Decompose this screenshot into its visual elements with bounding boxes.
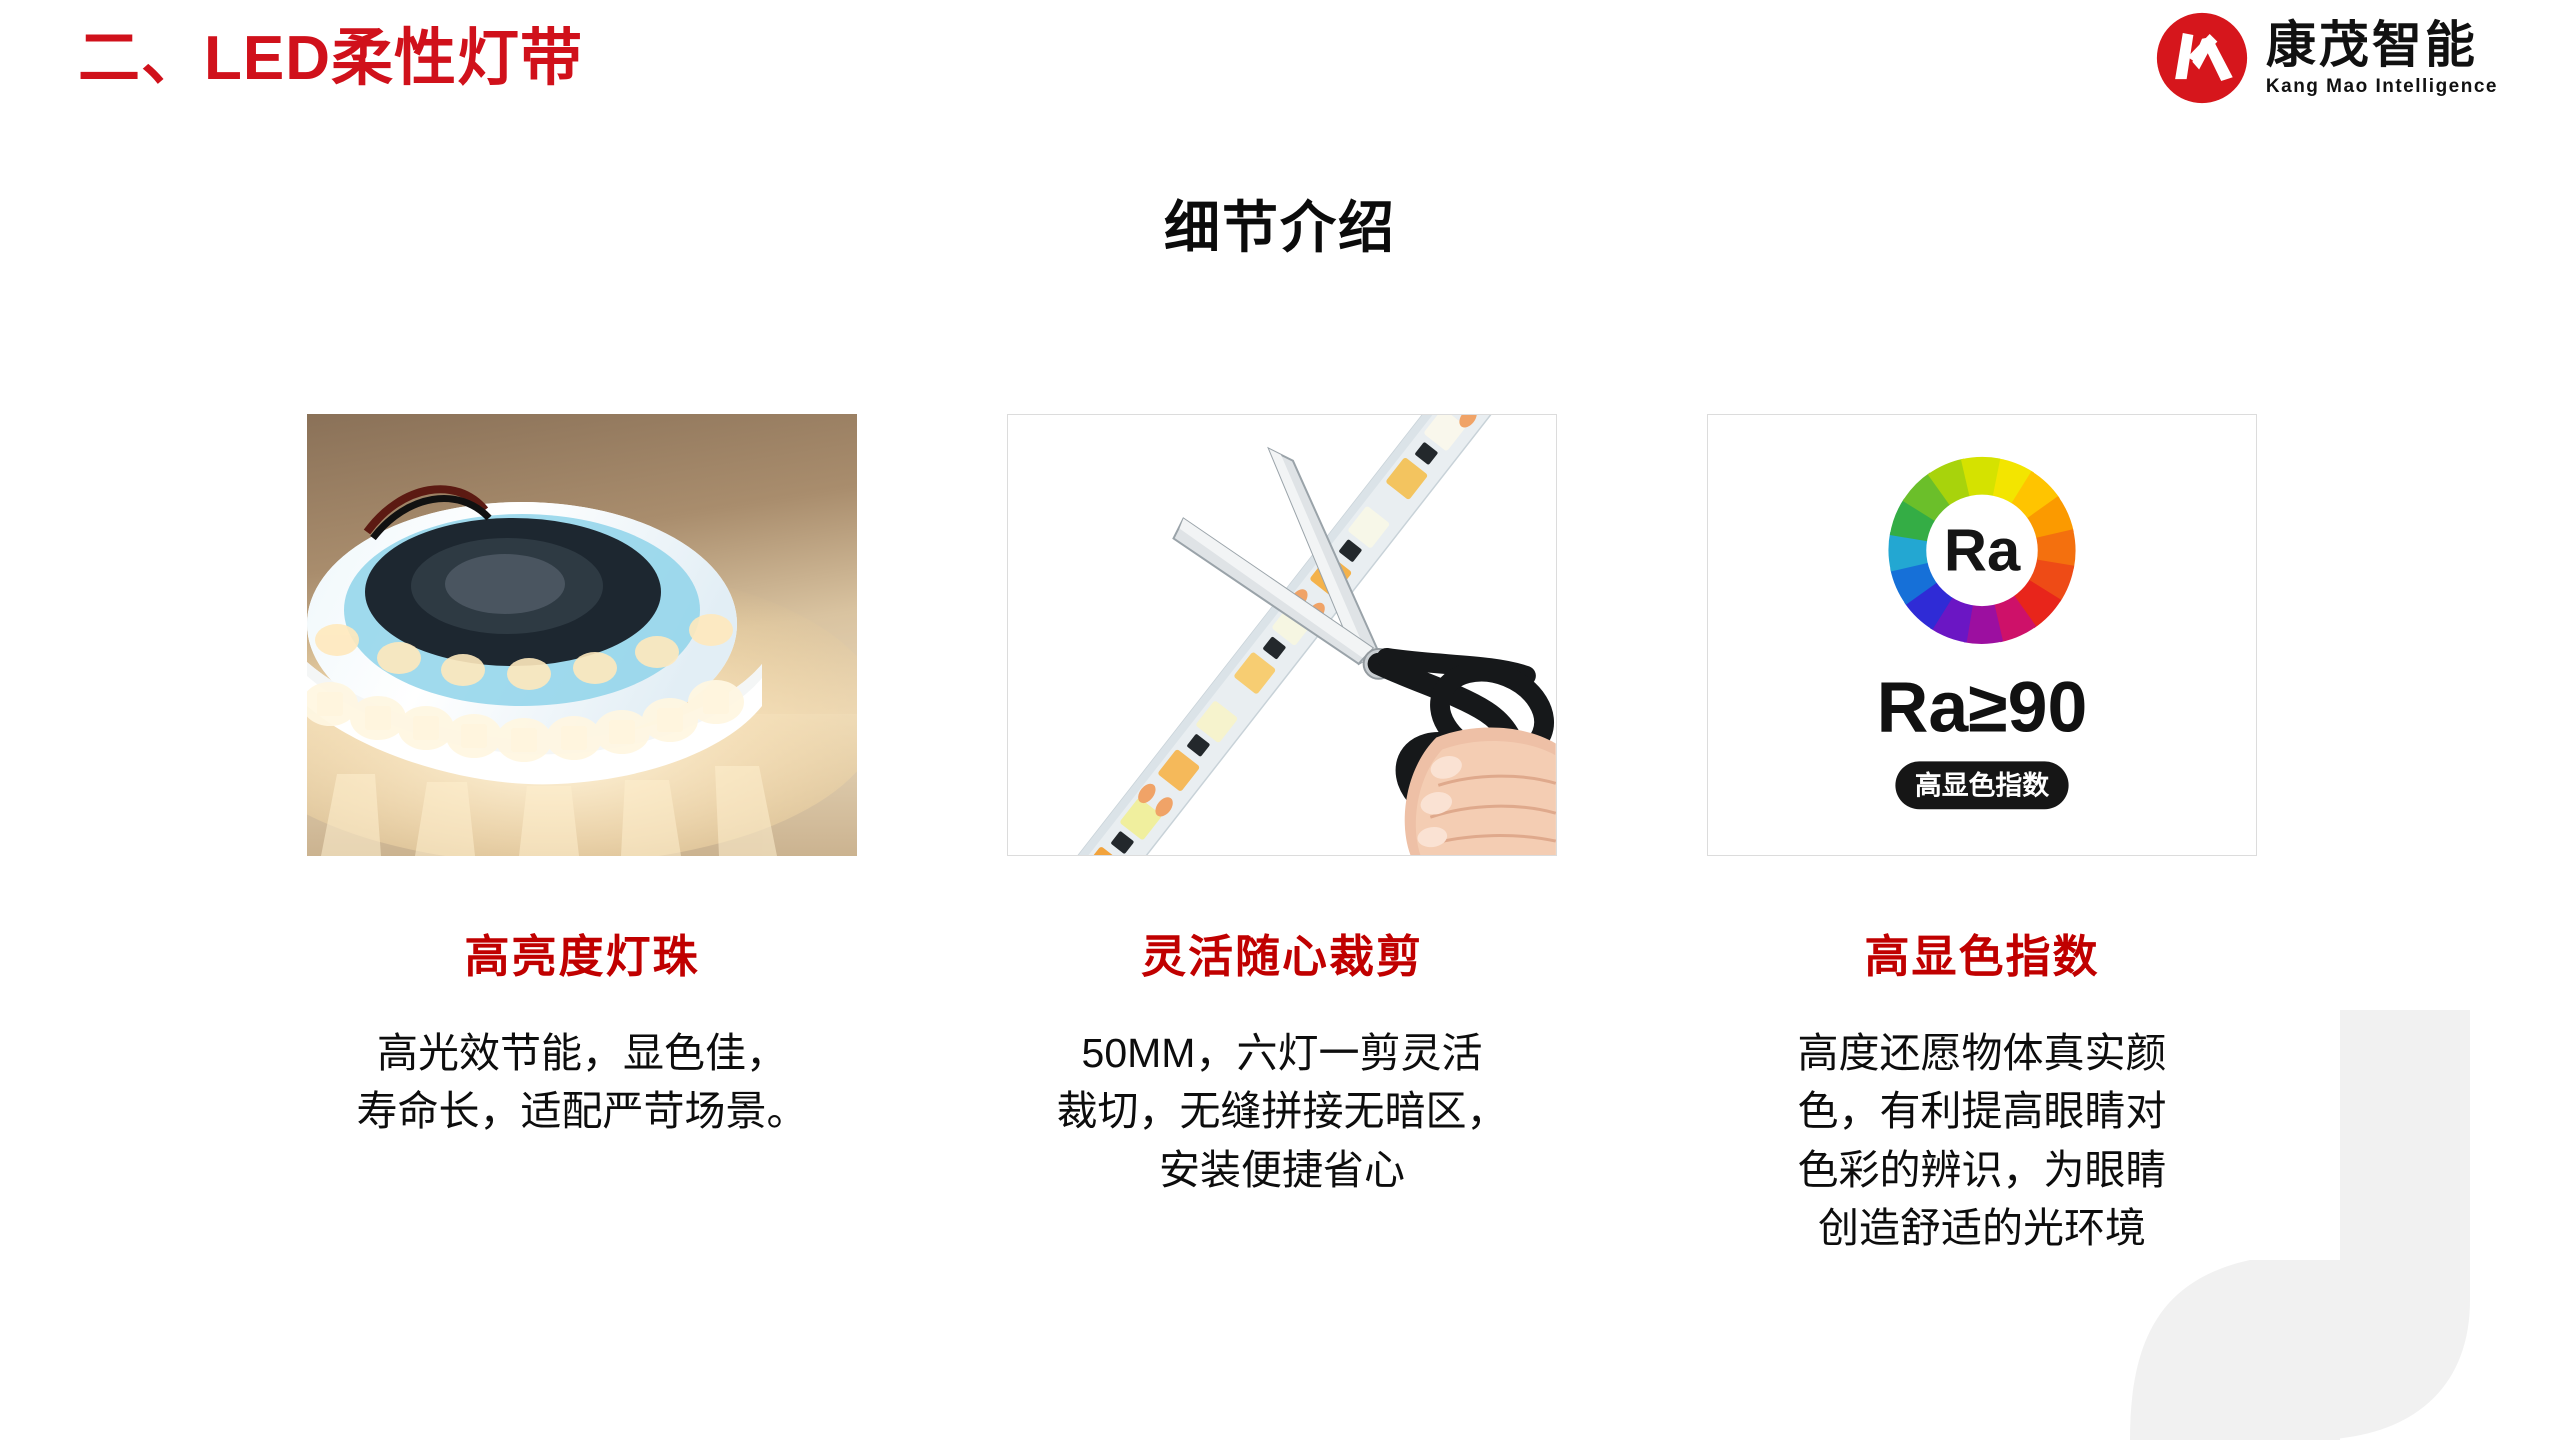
brand-text-block: 康茂智能 Kang Mao Intelligence — [2266, 20, 2498, 96]
page-title: 二、LED柔性灯带 — [78, 20, 583, 98]
feature-body-3: 高度还愿物体真实颜 色，有利提高眼睛对 色彩的辨识，为眼睛 创造舒适的光环境 — [1692, 1024, 2272, 1259]
scissors-cutting-led-strip-photo — [1007, 414, 1557, 856]
slide-root: 二、LED柔性灯带 康茂智能 Kang Mao Intelligence 细节介… — [0, 0, 2560, 1440]
feature-title-1: 高亮度灯珠 — [464, 932, 699, 982]
feature-body-1: 高光效节能，显色佳， 寿命长，适配严苛场景。 — [302, 1024, 862, 1141]
cri-color-wheel-graphic: Ra Ra≥90 高显色指数 — [1707, 414, 2257, 856]
brand-name-en: Kang Mao Intelligence — [2266, 77, 2498, 96]
cri-badge: 高显色指数 — [1895, 761, 2068, 809]
feature-card-2: 灵活随心裁剪 50MM，六灯一剪灵活 裁切，无缝拼接无暗区， 安装便捷省心 — [932, 414, 1632, 1258]
kangmao-circle-logo-icon — [2154, 10, 2250, 106]
brand-logo-block: 康茂智能 Kang Mao Intelligence — [2154, 10, 2498, 106]
wheel-center-label: Ra — [1944, 516, 2021, 583]
feature-title-3: 高显色指数 — [1864, 932, 2099, 982]
feature-title-2: 灵活随心裁剪 — [1141, 932, 1423, 982]
svg-text:高显色指数: 高显色指数 — [1915, 769, 2049, 800]
section-heading: 细节介绍 — [0, 183, 2560, 264]
brand-name-cn: 康茂智能 — [2266, 20, 2498, 70]
feature-card-1: 高亮度灯珠 高光效节能，显色佳， 寿命长，适配严苛场景。 — [232, 414, 932, 1258]
cri-value-label: Ra≥90 — [1877, 668, 2088, 748]
led-strip-reel-photo — [307, 414, 857, 856]
feature-card-3: Ra Ra≥90 高显色指数 高显色指数 高度还愿物体真实颜 色，有利提高眼睛对… — [1632, 414, 2332, 1258]
feature-columns: 高亮度灯珠 高光效节能，显色佳， 寿命长，适配严苛场景。 — [232, 414, 2332, 1258]
feature-body-2: 50MM，六灯一剪灵活 裁切，无缝拼接无暗区， 安装便捷省心 — [1002, 1024, 1562, 1200]
